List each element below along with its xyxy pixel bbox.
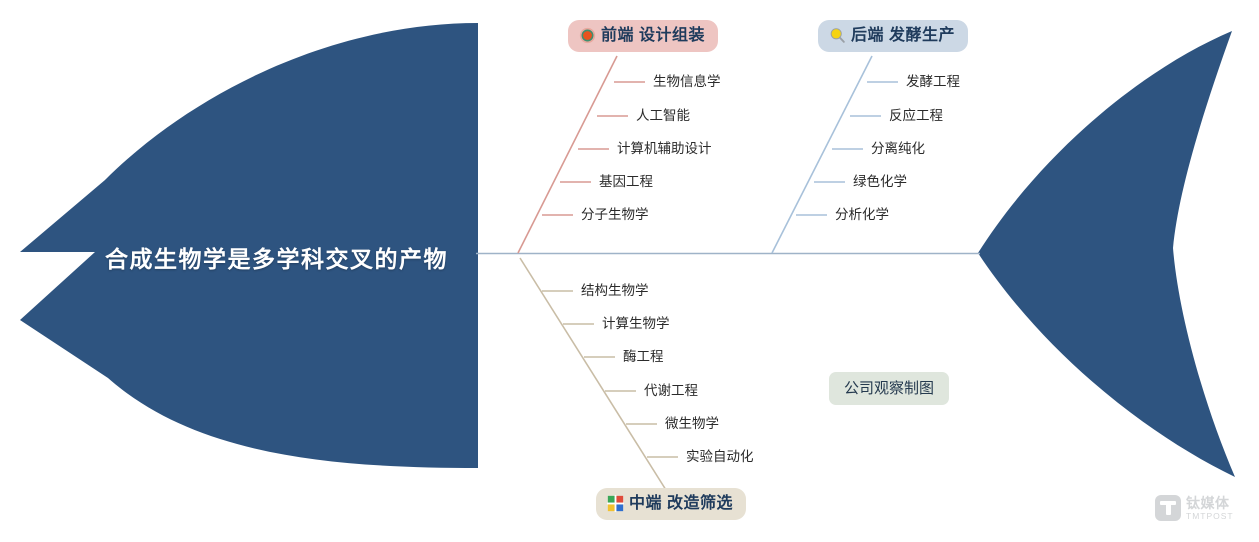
category-box-front-end[interactable]: 前端 设计组装 <box>568 20 718 52</box>
sub-label-back-end-0: 发酵工程 <box>906 75 960 89</box>
category-name-mid-end: 改造筛选 <box>667 496 733 512</box>
sub-label-back-end-1: 反应工程 <box>889 109 943 123</box>
sub-label-mid-end-2: 酶工程 <box>623 350 664 364</box>
magnifier-icon <box>829 27 846 44</box>
red-circle-icon <box>579 27 596 44</box>
tmtpost-logo-icon <box>1155 495 1181 521</box>
sub-label-front-end-2: 计算机辅助设计 <box>617 142 712 156</box>
sub-label-front-end-3: 基因工程 <box>599 175 653 189</box>
category-name-front-end: 设计组装 <box>639 28 705 44</box>
page-title: 合成生物学是多学科交叉的产物 <box>105 240 448 274</box>
watermark: 钛媒体 TMTPOST <box>1155 495 1234 521</box>
sub-label-mid-end-0: 结构生物学 <box>581 284 649 298</box>
sub-label-mid-end-3: 代谢工程 <box>644 384 698 398</box>
category-box-mid-end[interactable]: 中端 改造筛选 <box>596 488 746 520</box>
branch-line-front-end <box>518 56 617 253</box>
watermark-text: 钛媒体 TMTPOST <box>1186 496 1234 521</box>
color-grid-icon <box>607 495 624 512</box>
fish-head-shape <box>978 31 1235 477</box>
category-stage-mid-end: 中端 <box>629 496 662 512</box>
watermark-cn: 钛媒体 <box>1186 496 1234 510</box>
sub-label-back-end-3: 绿色化学 <box>853 175 907 189</box>
sub-label-back-end-2: 分离纯化 <box>871 142 925 156</box>
sub-label-mid-end-4: 微生物学 <box>665 417 719 431</box>
sub-label-mid-end-5: 实验自动化 <box>686 450 754 464</box>
note-box: 公司观察制图 <box>829 372 949 405</box>
watermark-en: TMTPOST <box>1186 512 1234 521</box>
sub-label-front-end-4: 分子生物学 <box>581 208 649 222</box>
sub-label-front-end-0: 生物信息学 <box>653 75 721 89</box>
category-box-back-end[interactable]: 后端 发酵生产 <box>818 20 968 52</box>
category-stage-front-end: 前端 <box>601 28 634 44</box>
sub-label-front-end-1: 人工智能 <box>636 109 690 123</box>
sub-label-mid-end-1: 计算生物学 <box>602 317 670 331</box>
category-name-back-end: 发酵生产 <box>889 28 955 44</box>
sub-label-back-end-4: 分析化学 <box>835 208 889 222</box>
branch-line-back-end <box>772 56 872 253</box>
category-stage-back-end: 后端 <box>851 28 884 44</box>
